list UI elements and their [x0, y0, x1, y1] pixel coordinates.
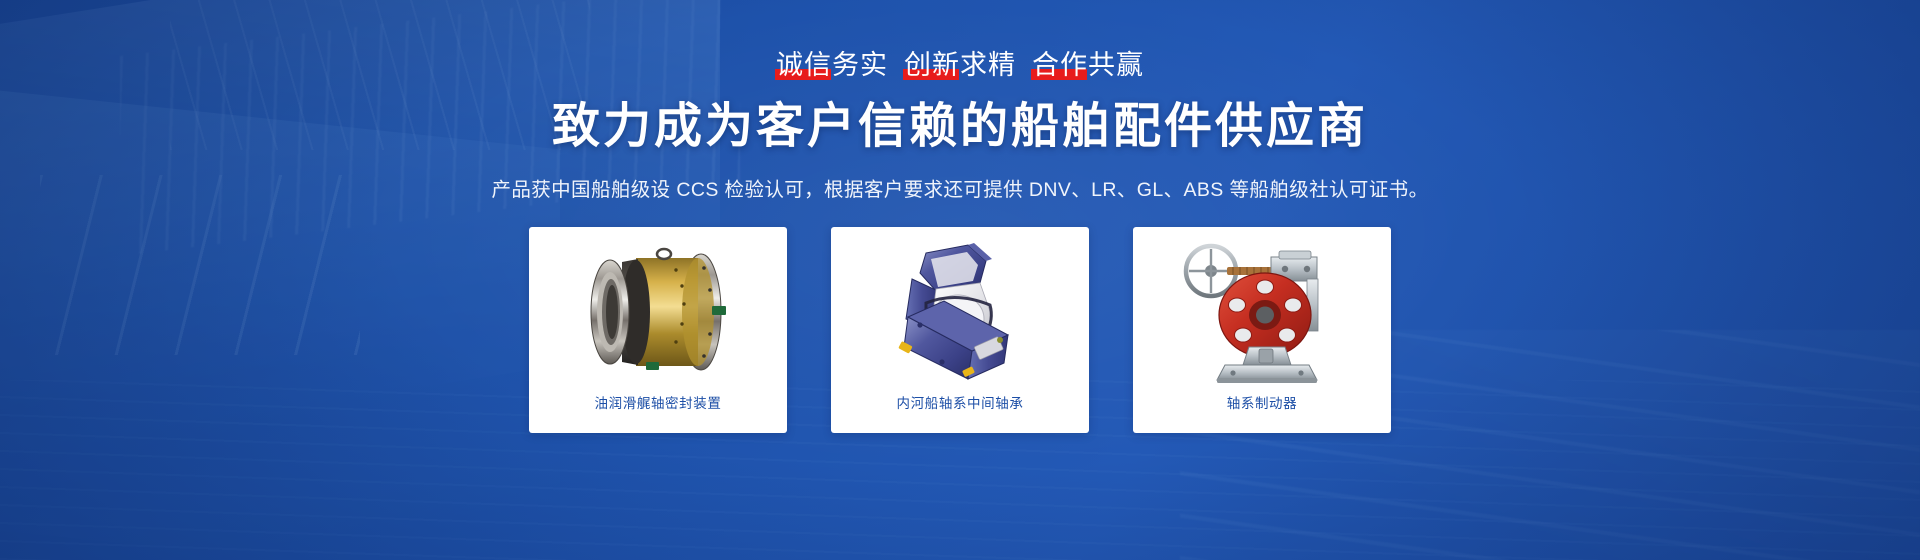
banner-content: 诚信务实 创新求精 合作共赢 致力成为客户信赖的船舶配件供应商 产品获中国船舶级… — [0, 0, 1920, 560]
banner-headline: 致力成为客户信赖的船舶配件供应商 — [552, 102, 1368, 152]
banner-subtitle: 产品获中国船舶级设 CCS 检验认可，根据客户要求还可提供 DNV、LR、GL、… — [491, 173, 1428, 202]
product-caption: 内河船轴系中间轴承 — [897, 388, 1024, 433]
product-image — [1133, 227, 1391, 388]
tagline-group-2: 创新求精 — [903, 52, 1017, 79]
product-caption: 轴系制动器 — [1227, 388, 1298, 433]
product-card[interactable]: 内河船轴系中间轴承 — [831, 227, 1089, 433]
tagline-group-1-text: 诚信务实 — [776, 50, 888, 80]
product-card-list: 油润滑艉轴密封装置 — [529, 227, 1391, 433]
hero-banner: 诚信务实 创新求精 合作共赢 致力成为客户信赖的船舶配件供应商 产品获中国船舶级… — [0, 0, 1920, 560]
tagline-group-3: 合作共赢 — [1031, 52, 1145, 79]
shaft-brake-icon — [1167, 237, 1357, 387]
tagline-group-1: 诚信务实 — [775, 52, 889, 79]
product-image — [529, 227, 787, 388]
stern-tube-seal-icon — [558, 242, 758, 382]
product-caption: 油润滑艉轴密封装置 — [595, 388, 722, 433]
tagline-group-3-text: 合作共赢 — [1032, 50, 1144, 80]
product-card[interactable]: 轴系制动器 — [1133, 227, 1391, 433]
product-image — [831, 227, 1089, 388]
tagline-group-2-text: 创新求精 — [904, 50, 1016, 80]
intermediate-bearing-icon — [868, 239, 1053, 384]
product-card[interactable]: 油润滑艉轴密封装置 — [529, 227, 787, 433]
banner-tagline: 诚信务实 创新求精 合作共赢 — [775, 52, 1145, 79]
